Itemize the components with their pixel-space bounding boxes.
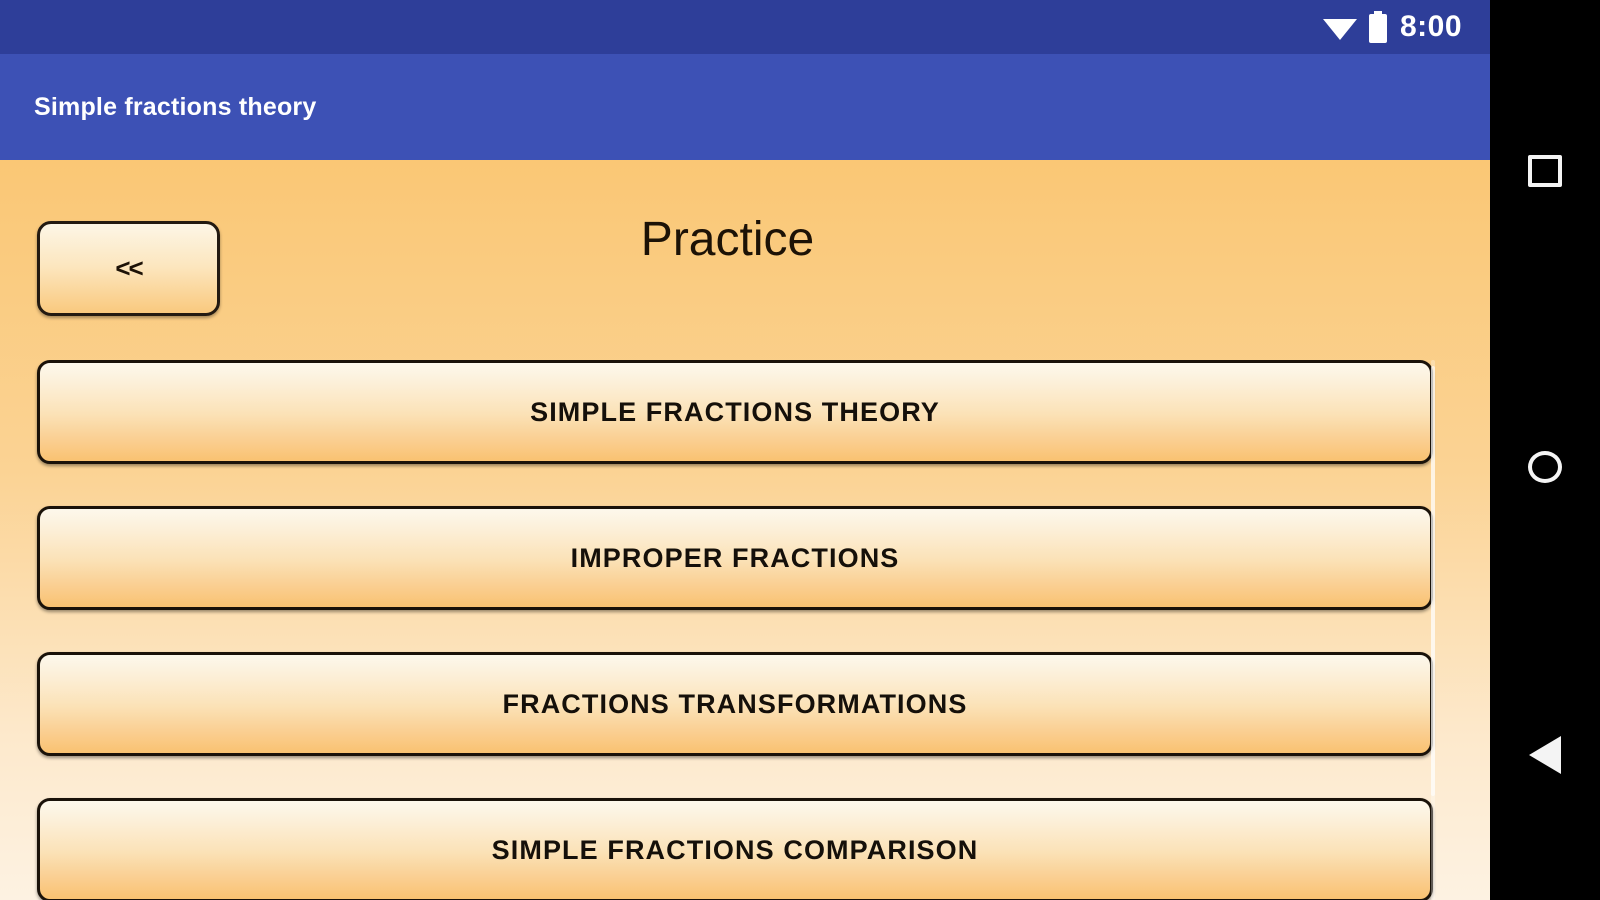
circle-icon — [1528, 451, 1562, 483]
nav-back-button[interactable] — [1490, 700, 1600, 810]
menu-item-simple-fractions-theory[interactable]: SIMPLE FRACTIONS THEORY — [37, 360, 1433, 464]
app-bar-title: Simple fractions theory — [34, 93, 316, 122]
menu-item-simple-fractions-comparison[interactable]: SIMPLE FRACTIONS COMPARISON — [37, 798, 1433, 900]
menu-item-label: FRACTIONS TRANSFORMATIONS — [503, 689, 968, 720]
menu-item-label: SIMPLE FRACTIONS COMPARISON — [492, 835, 979, 866]
status-bar-clock: 8:00 — [1400, 12, 1462, 42]
menu-item-label: SIMPLE FRACTIONS THEORY — [530, 397, 940, 428]
nav-home-button[interactable] — [1490, 412, 1600, 522]
content-area: << Practice SIMPLE FRACTIONS THEORY IMPR… — [0, 160, 1490, 900]
app-bar: Simple fractions theory — [0, 54, 1490, 160]
menu-item-fractions-transformations[interactable]: FRACTIONS TRANSFORMATIONS — [37, 652, 1433, 756]
practice-topic-list[interactable]: SIMPLE FRACTIONS THEORY IMPROPER FRACTIO… — [0, 360, 1490, 900]
nav-recents-button[interactable] — [1490, 116, 1600, 226]
page-title: Practice — [0, 212, 1455, 267]
phone-screen: 8:00 Simple fractions theory << Practice… — [0, 0, 1490, 900]
android-device-screenshot: 8:00 Simple fractions theory << Practice… — [0, 0, 1600, 900]
list-scrollbar-thumb[interactable] — [1431, 366, 1435, 796]
status-icon-group — [1322, 11, 1388, 43]
screen-header: << Practice — [0, 160, 1490, 360]
triangle-left-icon — [1529, 736, 1561, 774]
status-bar: 8:00 — [0, 0, 1490, 54]
android-navigation-bar — [1490, 0, 1600, 900]
menu-item-improper-fractions[interactable]: IMPROPER FRACTIONS — [37, 506, 1433, 610]
menu-item-label: IMPROPER FRACTIONS — [571, 543, 900, 574]
wifi-icon — [1322, 12, 1358, 42]
battery-icon — [1368, 11, 1388, 43]
square-icon — [1528, 155, 1562, 187]
